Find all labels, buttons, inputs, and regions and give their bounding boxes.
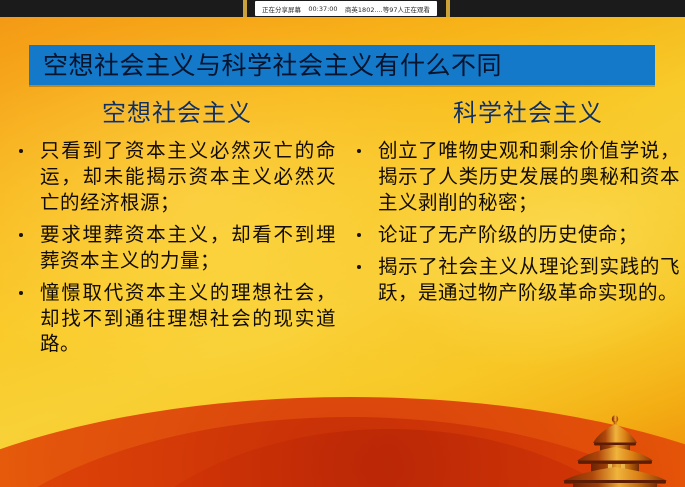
temple-of-heaven-icon (553, 413, 677, 487)
column-heading-right: 科学社会主义 (346, 93, 680, 128)
list-item: 论证了无产阶级的历史使命； (346, 222, 680, 248)
presentation-slide: 空想社会主义与科学社会主义有什么不同 空想社会主义 只看到了资本主义必然灭亡的命… (0, 17, 685, 487)
status-bar-accent-right (446, 0, 450, 17)
sun-arc-middle (0, 417, 685, 487)
list-item: 揭示了社会主义从理论到实践的飞跃，是通过物产阶级革命实现的。 (346, 254, 680, 306)
sun-arc-outer (0, 397, 685, 487)
column-heading-left: 空想社会主义 (10, 93, 336, 128)
list-item: 只看到了资本主义必然灭亡的命运，却未能揭示资本主义必然灭亡的经济根源； (10, 138, 336, 216)
sun-arc-decoration (0, 367, 685, 487)
list-item: 憧憬取代资本主义的理想社会，却找不到通往理想社会的现实道路。 (10, 280, 336, 358)
column-utopian-socialism: 空想社会主义 只看到了资本主义必然灭亡的命运，却未能揭示资本主义必然灭亡的经济根… (0, 93, 342, 363)
column-scientific-socialism: 科学社会主义 创立了唯物史观和剩余价值学说，揭示了人类历史发展的奥秘和资本主义剥… (342, 93, 684, 363)
list-item: 要求埋葬资本主义，却看不到埋葬资本主义的力量； (10, 222, 336, 274)
viewer-count-label: 商英1802....等97人正在观看 (345, 4, 430, 14)
slide-title-banner: 空想社会主义与科学社会主义有什么不同 (29, 45, 655, 85)
sun-arc-inner (90, 429, 685, 487)
bullet-list-right: 创立了唯物史观和剩余价值学说，揭示了人类历史发展的奥秘和资本主义剥削的秘密； 论… (346, 138, 680, 306)
slide-content-columns: 空想社会主义 只看到了资本主义必然灭亡的命运，却未能揭示资本主义必然灭亡的经济根… (0, 93, 685, 363)
screen-share-status-bar: 正在分享屏幕 00:37:00 商英1802....等97人正在观看 (0, 0, 685, 17)
share-timer: 00:37:00 (308, 5, 337, 13)
list-item: 创立了唯物史观和剩余价值学说，揭示了人类历史发展的奥秘和资本主义剥削的秘密； (346, 138, 680, 216)
bullet-list-left: 只看到了资本主义必然灭亡的命运，却未能揭示资本主义必然灭亡的经济根源； 要求埋葬… (10, 138, 336, 357)
share-status-pill[interactable]: 正在分享屏幕 00:37:00 商英1802....等97人正在观看 (255, 1, 437, 16)
screen-share-window: 正在分享屏幕 00:37:00 商英1802....等97人正在观看 (0, 0, 685, 487)
status-bar-accent-left (243, 0, 247, 17)
page-title: 空想社会主义与科学社会主义有什么不同 (43, 53, 502, 78)
share-status-label: 正在分享屏幕 (262, 4, 301, 14)
